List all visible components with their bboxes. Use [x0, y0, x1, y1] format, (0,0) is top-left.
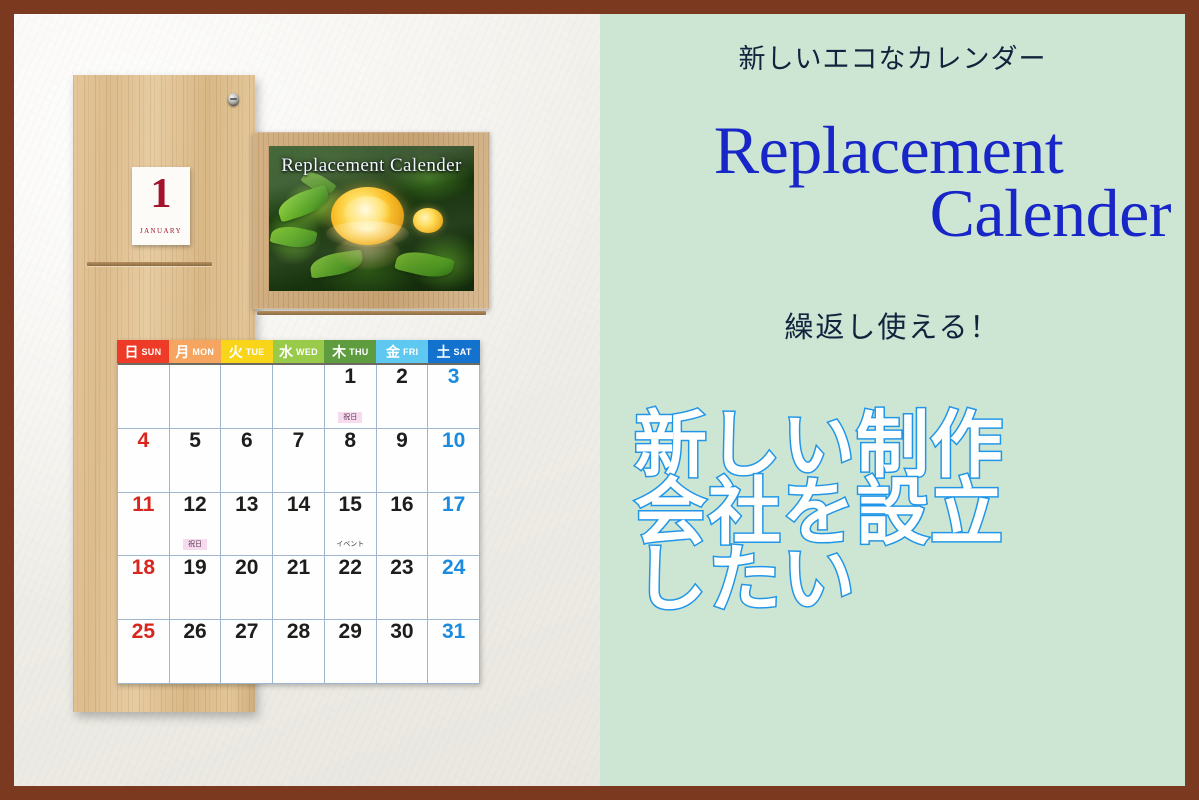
calendar-day-cell[interactable]: 25 [118, 620, 170, 684]
holiday-label: 祝日 [183, 539, 207, 550]
calendar-day-cell[interactable]: 17 [428, 493, 480, 557]
day-number: 28 [273, 621, 324, 643]
calendar-day-cell[interactable]: 4 [118, 429, 170, 493]
day-number: 27 [221, 621, 272, 643]
calendar-header-tue: 火TUE [221, 340, 273, 363]
frame-slot [257, 311, 486, 315]
subline-text: 繰返し使える！ [600, 304, 1185, 346]
banner-root: 1 JANUARY Replacement Calender [0, 0, 1199, 800]
day-number: 22 [325, 557, 376, 579]
calendar-empty-cell [170, 365, 222, 429]
calendar-day-cell[interactable]: 2 [377, 365, 429, 429]
text-pane: 新しいエコなカレンダー Replacement Calender 繰返し使える！… [600, 14, 1185, 786]
day-number: 29 [325, 621, 376, 643]
calendar-day-cell[interactable]: 8 [325, 429, 377, 493]
weekday-abbrev: MON [192, 347, 214, 357]
calendar-day-cell[interactable]: 19 [170, 556, 222, 620]
calendar-day-cell[interactable]: 16 [377, 493, 429, 557]
calendar-day-cell[interactable]: 26 [170, 620, 222, 684]
day-number: 20 [221, 557, 272, 579]
day-number: 24 [428, 557, 479, 579]
day-number: 14 [273, 494, 324, 516]
weekday-kanji: 月 [175, 345, 189, 359]
calendar-day-cell[interactable]: 14 [273, 493, 325, 557]
weekday-kanji: 金 [386, 345, 400, 359]
day-number: 15 [325, 494, 376, 516]
calendar-day-cell[interactable]: 27 [221, 620, 273, 684]
day-number: 23 [377, 557, 428, 579]
calendar-day-cell[interactable]: 1祝日 [325, 365, 377, 429]
calendar-day-cell[interactable]: 3 [428, 365, 480, 429]
calendar-day-cell[interactable]: 29 [325, 620, 377, 684]
calendar-day-cell[interactable]: 18 [118, 556, 170, 620]
rose-flower [331, 187, 405, 245]
rose-bud [413, 208, 444, 233]
calendar-day-cell[interactable]: 21 [273, 556, 325, 620]
weekday-abbrev: SUN [141, 347, 161, 357]
picture-frame: Replacement Calender [253, 132, 490, 309]
weekday-kanji: 土 [436, 345, 450, 359]
calendar-header-thu: 木THU [324, 340, 376, 363]
outline-line-2: 会社を設立 [634, 479, 1175, 546]
day-number: 8 [325, 430, 376, 452]
day-number: 25 [118, 621, 169, 643]
calendar-header-fri: 金FRI [376, 340, 428, 363]
day-card-number: 1 [151, 173, 172, 215]
photo-pane: 1 JANUARY Replacement Calender [14, 14, 600, 786]
calendar-header-row: 日SUN月MON火TUE水WED木THU金FRI土SAT [117, 340, 480, 363]
calendar-day-cell[interactable]: 9 [377, 429, 429, 493]
calendar-empty-cell [118, 365, 170, 429]
eyebrow-text: 新しいエコなカレンダー [600, 37, 1185, 76]
headline-line-2: Calender [600, 182, 1177, 245]
day-number: 30 [377, 621, 428, 643]
event-label: イベント [331, 539, 369, 550]
day-number: 12 [170, 494, 221, 516]
outline-line-3: したい [634, 546, 1175, 613]
calendar-day-cell[interactable]: 12祝日 [170, 493, 222, 557]
day-number: 21 [273, 557, 324, 579]
calendar-day-cell[interactable]: 23 [377, 556, 429, 620]
day-number: 2 [377, 366, 428, 388]
day-number: 1 [325, 366, 376, 388]
day-number: 18 [118, 557, 169, 579]
banner-inner: 1 JANUARY Replacement Calender [14, 14, 1185, 786]
outline-headline: 新しい制作会社を設立したい [634, 412, 1175, 613]
weekday-abbrev: THU [349, 347, 368, 357]
calendar-day-cell[interactable]: 6 [221, 429, 273, 493]
day-card-month: JANUARY [140, 227, 182, 235]
day-number: 16 [377, 494, 428, 516]
day-number: 7 [273, 430, 324, 452]
holiday-label: 祝日 [338, 412, 362, 423]
weekday-kanji: 木 [332, 345, 346, 359]
day-number: 31 [428, 621, 479, 643]
calendar-day-cell[interactable]: 15イベント [325, 493, 377, 557]
screw-icon [228, 93, 239, 106]
day-number: 3 [428, 366, 479, 388]
day-number: 11 [118, 494, 169, 516]
headline: Replacement Calender [600, 119, 1177, 245]
calendar-day-cell[interactable]: 30 [377, 620, 429, 684]
calendar-day-cell[interactable]: 10 [428, 429, 480, 493]
calendar-day-cell[interactable]: 20 [221, 556, 273, 620]
weekday-kanji: 日 [124, 345, 138, 359]
calendar-day-cell[interactable]: 31 [428, 620, 480, 684]
day-card: 1 JANUARY [132, 167, 190, 245]
weekday-abbrev: SAT [453, 347, 471, 357]
calendar-day-cell[interactable]: 5 [170, 429, 222, 493]
calendar-day-cell[interactable]: 7 [273, 429, 325, 493]
day-number: 5 [170, 430, 221, 452]
calendar-sheet: 日SUN月MON火TUE水WED木THU金FRI土SAT 1祝日23456789… [117, 340, 480, 684]
calendar-day-cell[interactable]: 11 [118, 493, 170, 557]
weekday-kanji: 火 [229, 345, 243, 359]
photo-caption: Replacement Calender [269, 155, 474, 177]
weekday-abbrev: FRI [403, 347, 418, 357]
weekday-abbrev: TUE [246, 347, 265, 357]
calendar-header-sun: 日SUN [117, 340, 169, 363]
weekday-kanji: 水 [279, 345, 293, 359]
outline-line-1: 新しい制作 [634, 412, 1175, 479]
calendar-day-cell[interactable]: 28 [273, 620, 325, 684]
calendar-header-mon: 月MON [169, 340, 221, 363]
day-number: 26 [170, 621, 221, 643]
day-number: 4 [118, 430, 169, 452]
card-slot [87, 262, 212, 266]
day-number: 6 [221, 430, 272, 452]
calendar-empty-cell [221, 365, 273, 429]
day-number: 17 [428, 494, 479, 516]
day-number: 19 [170, 557, 221, 579]
day-number: 10 [428, 430, 479, 452]
calendar-day-cell[interactable]: 13 [221, 493, 273, 557]
calendar-day-cell[interactable]: 24 [428, 556, 480, 620]
calendar-empty-cell [273, 365, 325, 429]
rose-photo: Replacement Calender [269, 146, 474, 291]
day-number: 13 [221, 494, 272, 516]
calendar-day-cell[interactable]: 22 [325, 556, 377, 620]
calendar-header-sat: 土SAT [428, 340, 480, 363]
calendar-header-wed: 水WED [273, 340, 325, 363]
calendar-grid: 1祝日23456789101112祝日131415イベント16171819202… [117, 363, 480, 684]
day-number: 9 [377, 430, 428, 452]
weekday-abbrev: WED [296, 347, 318, 357]
